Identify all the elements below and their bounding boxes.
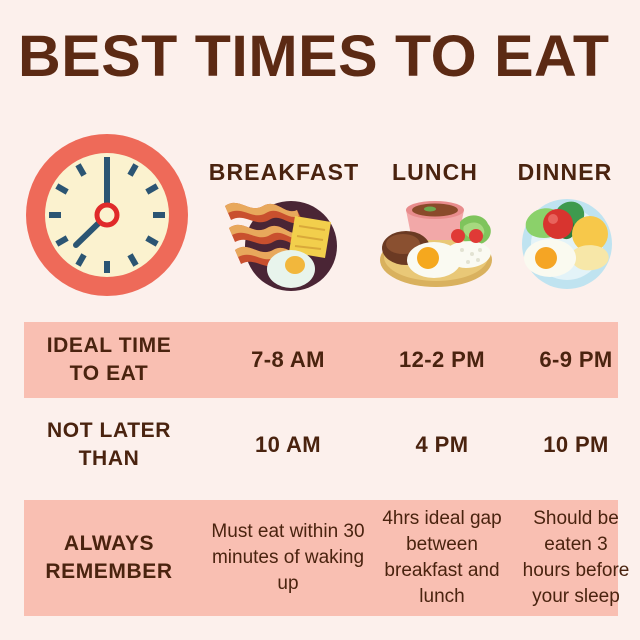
cell-ideal-time-breakfast: 7-8 AM [204,347,372,373]
cell-ideal-time-lunch: 12-2 PM [372,347,512,373]
table-row-ideal-time: IDEAL TIME TO EAT 7-8 AM 12-2 PM 6-9 PM [0,322,640,398]
dinner-sides [571,216,608,270]
fried-egg-lunch [407,242,461,278]
cell-ideal-time-dinner: 6-9 PM [512,347,640,373]
dinner-svg [512,192,622,290]
fried-egg [267,250,315,288]
column-header-dinner: DINNER [495,159,635,186]
page-title: BEST TIMES TO EAT [18,26,634,88]
table-row-not-later-than: NOT LATER THAN 10 AM 4 PM 10 PM [0,410,640,480]
breakfast-plate-icon [219,196,349,292]
table-row-always-remember: ALWAYS REMEMBER Must eat within 30 minut… [0,500,640,616]
cell-always-remember-lunch: 4hrs ideal gap between breakfast and lun… [372,506,512,610]
dinner-plate-icon [512,192,622,290]
wall-clock-icon [25,133,189,297]
row-label-always-remember: ALWAYS REMEMBER [14,530,204,586]
column-header-breakfast: BREAKFAST [194,159,374,186]
row-label-not-later-than: NOT LATER THAN [14,417,204,473]
row-label-ideal-time: IDEAL TIME TO EAT [14,332,204,388]
cell-always-remember-dinner: Should be eaten 3 hours before your slee… [512,506,640,610]
cell-always-remember-breakfast: Must eat within 30 minutes of waking up [204,519,372,597]
clock-svg [25,133,189,297]
clock-center-pin [97,205,117,225]
cell-not-later-than-lunch: 4 PM [372,432,512,458]
breakfast-svg [219,196,349,292]
tomato [543,209,573,239]
cell-not-later-than-breakfast: 10 AM [204,432,372,458]
fried-egg-dinner [524,239,576,277]
cell-not-later-than-dinner: 10 PM [512,432,640,458]
infographic-page: BEST TIMES TO EAT [0,0,640,640]
lunch-svg [372,192,500,292]
column-header-lunch: LUNCH [360,159,510,186]
lunch-tray-icon [372,192,500,292]
